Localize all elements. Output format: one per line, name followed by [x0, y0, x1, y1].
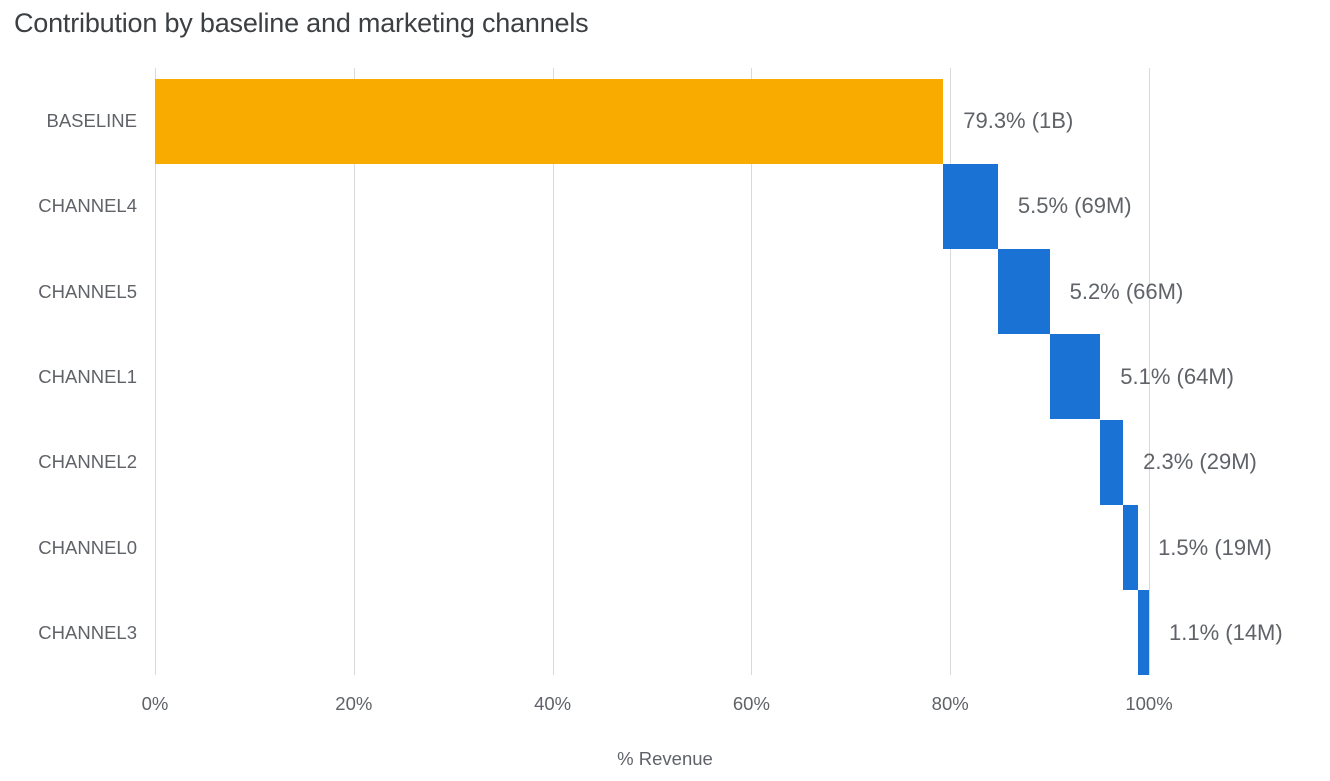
waterfall-chart: Contribution by baseline and marketing c… [0, 0, 1330, 781]
x-tick-40pct: 40% [534, 693, 571, 715]
x-tick-0pct: 0% [142, 693, 169, 715]
value-label-channel4: 5.5% (69M) [1018, 193, 1132, 219]
x-tick-20pct: 20% [335, 693, 372, 715]
y-axis-label-channel5: CHANNEL5 [0, 281, 137, 303]
value-label-baseline: 79.3% (1B) [963, 108, 1073, 134]
x-tick-80pct: 80% [932, 693, 969, 715]
y-axis-label-channel1: CHANNEL1 [0, 366, 137, 388]
value-label-channel0: 1.5% (19M) [1158, 535, 1272, 561]
x-tick-60pct: 60% [733, 693, 770, 715]
gridline-80pct [950, 68, 951, 675]
chart-title: Contribution by baseline and marketing c… [14, 8, 588, 39]
y-axis-label-channel3: CHANNEL3 [0, 622, 137, 644]
bar-channel1[interactable] [1050, 334, 1101, 419]
x-axis-title: % Revenue [0, 748, 1330, 770]
bar-channel4[interactable] [943, 164, 998, 249]
value-label-channel5: 5.2% (66M) [1070, 279, 1184, 305]
bar-channel5[interactable] [998, 249, 1050, 334]
bar-baseline[interactable] [155, 79, 943, 164]
value-label-channel2: 2.3% (29M) [1143, 449, 1257, 475]
bar-channel2[interactable] [1100, 420, 1123, 505]
y-axis-label-channel4: CHANNEL4 [0, 195, 137, 217]
bar-channel0[interactable] [1123, 505, 1138, 590]
x-tick-100pct: 100% [1125, 693, 1172, 715]
y-axis-label-baseline: BASELINE [0, 110, 137, 132]
plot-area [155, 68, 1149, 675]
value-label-channel3: 1.1% (14M) [1169, 620, 1283, 646]
y-axis-label-channel0: CHANNEL0 [0, 537, 137, 559]
value-label-channel1: 5.1% (64M) [1120, 364, 1234, 390]
y-axis-label-channel2: CHANNEL2 [0, 451, 137, 473]
bar-channel3[interactable] [1138, 590, 1149, 675]
